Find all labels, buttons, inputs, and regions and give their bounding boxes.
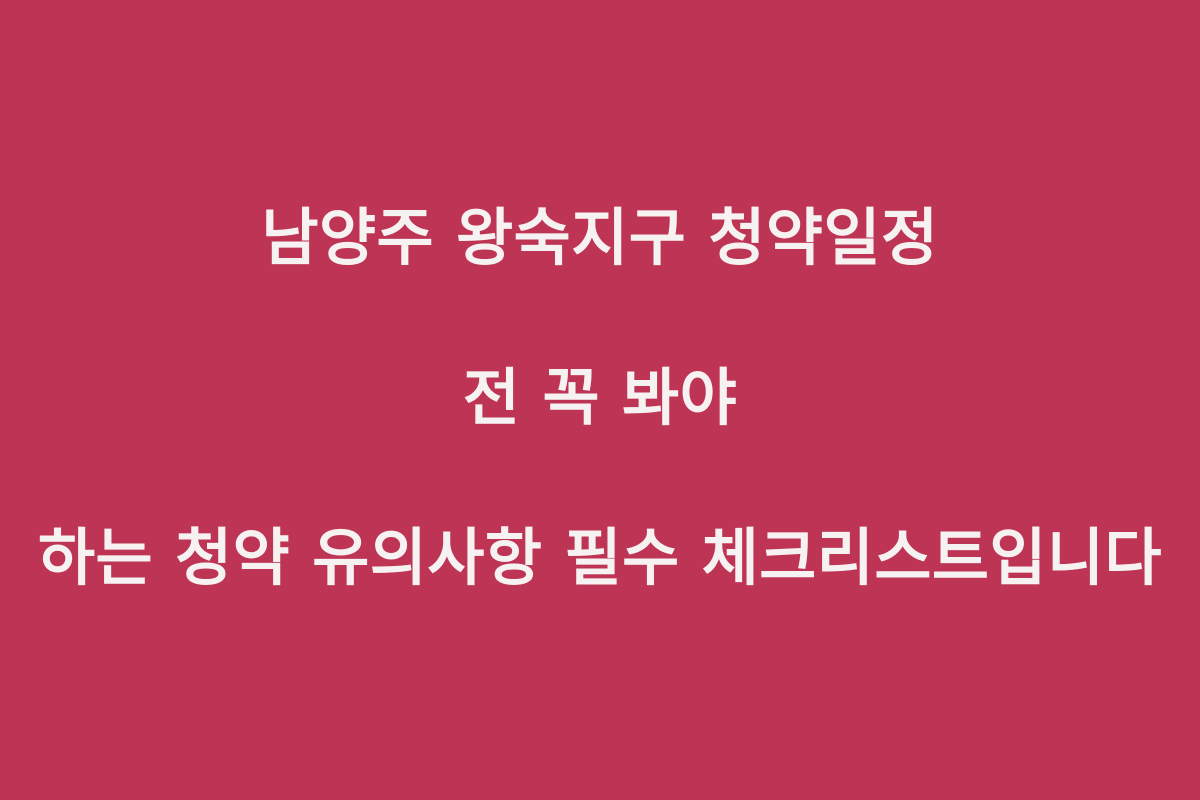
page-title-line-2: 전 꼭 봐야	[10, 358, 1190, 438]
page-title: 남양주 왕숙지구 청약일정 전 꼭 봐야 하는 청약 유의사항 필수 체크리스트…	[10, 118, 1190, 678]
page-title-line-1: 남양주 왕숙지구 청약일정	[10, 198, 1190, 278]
page-title-line-3: 하는 청약 유의사항 필수 체크리스트입니다	[10, 518, 1190, 598]
title-banner: 남양주 왕숙지구 청약일정 전 꼭 봐야 하는 청약 유의사항 필수 체크리스트…	[0, 0, 1200, 800]
